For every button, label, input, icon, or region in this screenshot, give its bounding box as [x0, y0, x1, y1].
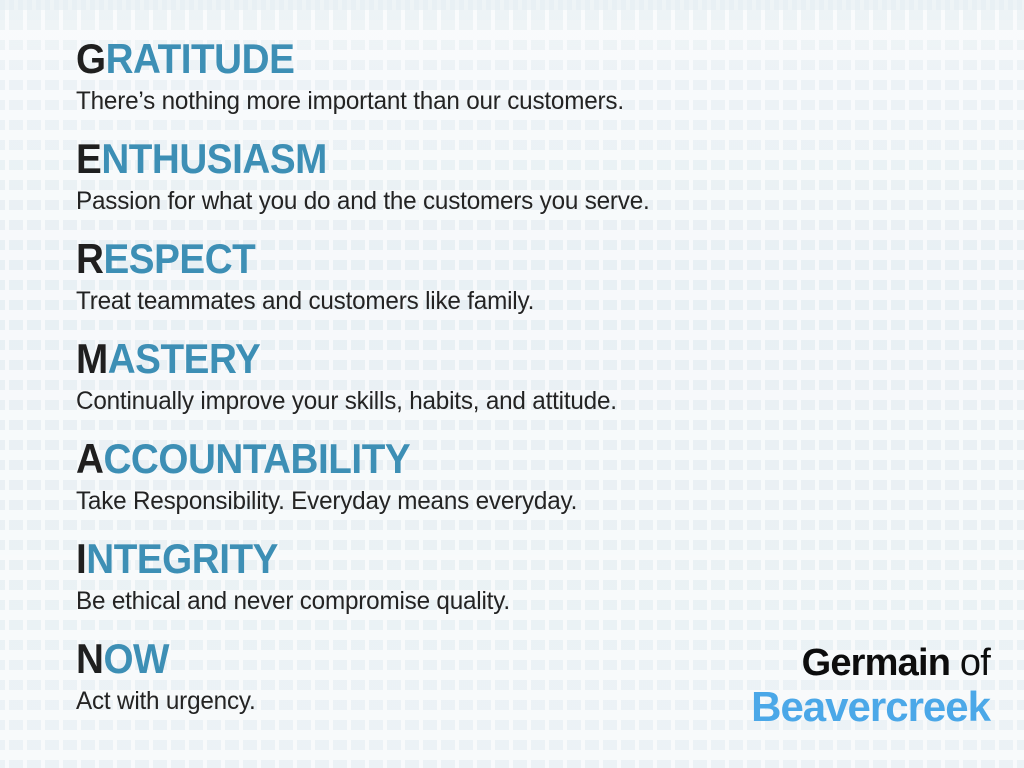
- value-remainder-letters: OW: [103, 635, 169, 682]
- value-heading-accountability: ACCOUNTABILITY: [76, 436, 948, 482]
- value-heading-enthusiasm: ENTHUSIASM: [76, 136, 948, 182]
- value-initial-letter: I: [76, 535, 86, 582]
- value-heading-integrity: INTEGRITY: [76, 536, 948, 582]
- value-block-integrity: INTEGRITY Be ethical and never compromis…: [76, 536, 1024, 636]
- value-remainder-letters: NTEGRITY: [86, 535, 278, 582]
- value-block-gratitude: GRATITUDE There’s nothing more important…: [76, 36, 1024, 136]
- value-block-respect: RESPECT Treat teammates and customers li…: [76, 236, 1024, 336]
- value-heading-gratitude: GRATITUDE: [76, 36, 948, 82]
- value-description-enthusiasm: Passion for what you do and the customer…: [76, 186, 996, 216]
- logo-primary-line: Germain of: [751, 642, 990, 684]
- value-block-accountability: ACCOUNTABILITY Take Responsibility. Ever…: [76, 436, 1024, 536]
- value-remainder-letters: RATITUDE: [106, 35, 295, 82]
- value-block-mastery: MASTERY Continually improve your skills,…: [76, 336, 1024, 436]
- value-heading-respect: RESPECT: [76, 236, 948, 282]
- logo-brand-name: Germain: [802, 642, 951, 684]
- value-description-integrity: Be ethical and never compromise quality.: [76, 586, 996, 616]
- value-description-mastery: Continually improve your skills, habits,…: [76, 386, 996, 416]
- value-remainder-letters: ESPECT: [103, 235, 255, 282]
- value-initial-letter: E: [76, 135, 101, 182]
- dealership-logo: Germain of Beavercreek: [751, 642, 990, 730]
- value-description-gratitude: There’s nothing more important than our …: [76, 86, 996, 116]
- logo-connector-text: of: [960, 642, 990, 684]
- value-remainder-letters: NTHUSIASM: [101, 135, 327, 182]
- value-initial-letter: M: [76, 335, 108, 382]
- logo-connector-word: [950, 642, 960, 684]
- value-initial-letter: N: [76, 635, 103, 682]
- value-description-accountability: Take Responsibility. Everyday means ever…: [76, 486, 996, 516]
- value-block-enthusiasm: ENTHUSIASM Passion for what you do and t…: [76, 136, 1024, 236]
- values-poster: GRATITUDE There’s nothing more important…: [0, 0, 1024, 768]
- value-initial-letter: R: [76, 235, 103, 282]
- value-initial-letter: G: [76, 35, 106, 82]
- value-remainder-letters: ASTERY: [108, 335, 261, 382]
- value-initial-letter: A: [76, 435, 103, 482]
- value-remainder-letters: CCOUNTABILITY: [103, 435, 410, 482]
- logo-location-name: Beavercreek: [751, 684, 990, 730]
- value-description-respect: Treat teammates and customers like famil…: [76, 286, 996, 316]
- value-heading-mastery: MASTERY: [76, 336, 948, 382]
